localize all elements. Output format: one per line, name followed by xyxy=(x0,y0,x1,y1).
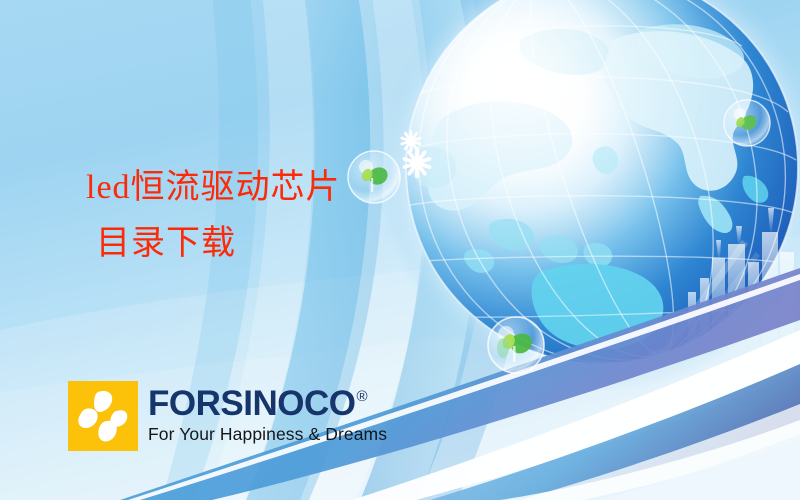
bubble-pinwheel-top xyxy=(724,100,770,146)
brand-tagline: For Your Happiness & Dreams xyxy=(148,424,387,445)
bubble-pinwheel-middle xyxy=(348,151,400,203)
bubble-pinwheel-bottom xyxy=(488,317,544,373)
brand-text: FORSINOCO ® For Your Happiness & Dreams xyxy=(148,387,387,444)
brand-name: FORSINOCO xyxy=(148,387,355,420)
banner-canvas: led恒流驱动芯片 目录下载 FORSINOCO ® For Your Happ… xyxy=(0,0,800,500)
brand-logo-lockup: FORSINOCO ® For Your Happiness & Dreams xyxy=(68,381,387,451)
registered-trademark-symbol: ® xyxy=(356,389,367,404)
four-petal-pinwheel-icon xyxy=(68,381,138,451)
